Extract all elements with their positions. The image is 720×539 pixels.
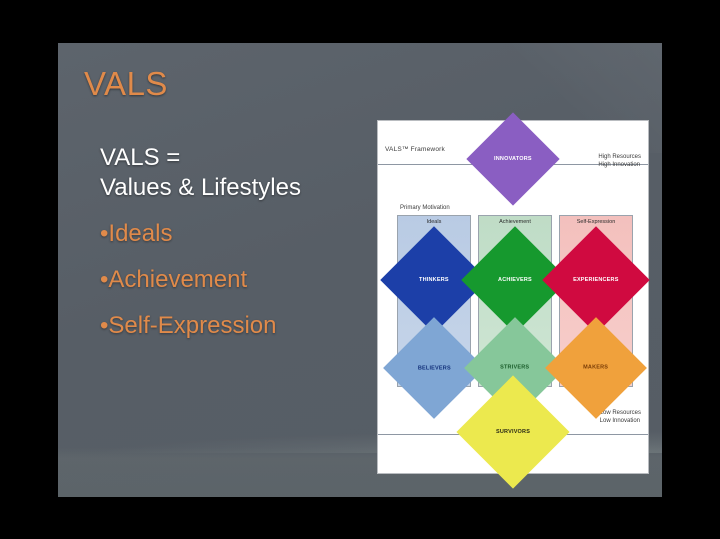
low-resources-line-1: Low Resources <box>600 409 641 417</box>
body-line-definition-term: VALS = <box>100 143 390 173</box>
column-ideals: Ideals THINKERS BELIEVERS <box>397 215 471 387</box>
vals-framework-diagram: VALS™ Framework High Resources High Inno… <box>377 120 649 474</box>
slide-body: VALS = Values & Lifestyles •Ideals •Achi… <box>100 143 390 341</box>
framework-title: VALS™ Framework <box>385 146 445 153</box>
motivation-columns: Ideals THINKERS BELIEVERS Achievement AC… <box>397 215 633 387</box>
presentation-slide: VALS VALS = Values & Lifestyles •Ideals … <box>58 43 662 497</box>
segment-survivors-label: SURVIVORS <box>496 429 530 435</box>
column-self-expression-header: Self-Expression <box>560 219 632 225</box>
segment-strivers-label: STRIVERS <box>500 365 529 371</box>
bullet-achievement: •Achievement <box>100 265 390 295</box>
segment-believers-label: BELIEVERS <box>418 365 451 371</box>
bullet-self-expression: •Self-Expression <box>100 311 390 341</box>
segment-innovators-label: INNOVATORS <box>494 156 532 162</box>
low-resources-label: Low Resources Low Innovation <box>600 409 641 425</box>
low-resources-line-2: Low Innovation <box>600 417 641 425</box>
column-achievement-header: Achievement <box>479 219 551 225</box>
segment-thinkers-label: THINKERS <box>419 277 449 283</box>
segment-experiencers-label: EXPERIENCERS <box>573 277 619 283</box>
segment-makers-label: MAKERS <box>583 365 608 371</box>
high-resources-label: High Resources High Innovation <box>598 153 641 169</box>
primary-motivation-label: Primary Motivation <box>400 205 450 211</box>
body-line-definition-expansion: Values & Lifestyles <box>100 173 390 203</box>
video-letterbox-stage: VALS VALS = Values & Lifestyles •Ideals … <box>0 0 720 539</box>
column-achievement: Achievement ACHIEVERS STRIVERS <box>478 215 552 387</box>
column-ideals-header: Ideals <box>398 219 470 225</box>
high-resources-line-1: High Resources <box>598 153 641 161</box>
high-resources-line-2: High Innovation <box>598 161 641 169</box>
segment-innovators: INNOVATORS <box>466 112 559 205</box>
column-self-expression: Self-Expression EXPERIENCERS MAKERS <box>559 215 633 387</box>
bullet-ideals: •Ideals <box>100 219 390 249</box>
segment-achievers-label: ACHIEVERS <box>498 277 532 283</box>
segment-survivors: SURVIVORS <box>456 375 569 488</box>
slide-title: VALS <box>84 65 168 103</box>
segment-makers: MAKERS <box>545 317 647 419</box>
